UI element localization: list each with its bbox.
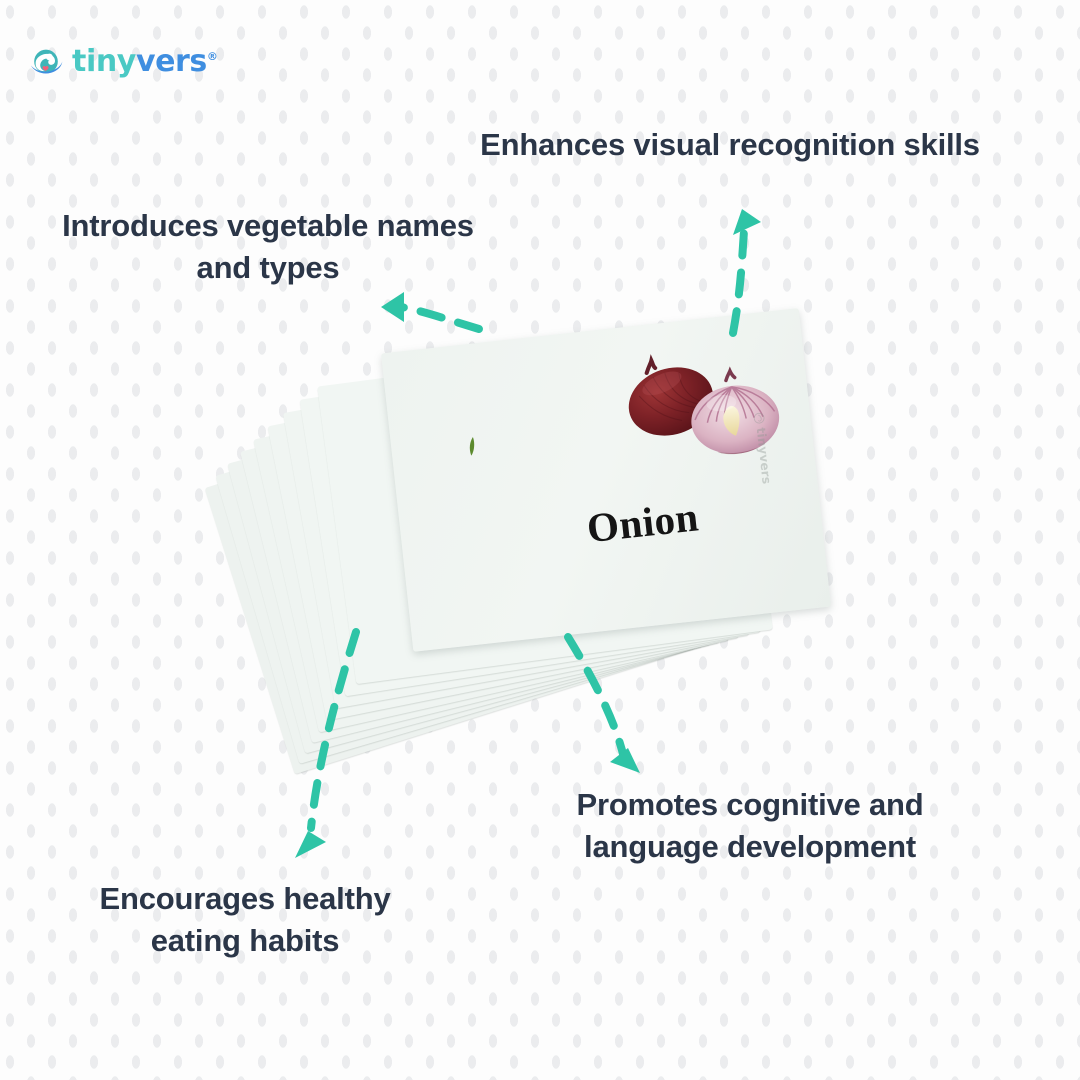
annotation-introduces-vegetable-names: Introduces vegetable names and types — [60, 205, 476, 288]
flashcard-top[interactable]: Onion tinyvers — [381, 308, 831, 652]
registered-trademark-icon: ® — [207, 50, 218, 63]
poster-canvas: tinyvers® — [0, 0, 1080, 1080]
wordmark-tiny: tiny — [72, 44, 136, 79]
flashcard-stack[interactable]: Onion tinyvers — [236, 318, 856, 718]
tinyvers-globe-icon — [28, 44, 64, 80]
annotation-enhances-visual-recognition: Enhances visual recognition skills — [470, 124, 990, 166]
annotation-promotes-cognitive-language: Promotes cognitive and language developm… — [525, 784, 975, 867]
tinyvers-globe-icon — [753, 411, 767, 425]
annotation-encourages-healthy-eating: Encourages healthy eating habits — [55, 878, 435, 961]
leaf-fragment-icon — [466, 436, 479, 459]
tinyvers-wordmark: tinyvers® — [72, 47, 218, 77]
tinyvers-logo[interactable]: tinyvers® — [28, 44, 218, 80]
wordmark-vers: vers — [136, 44, 207, 79]
